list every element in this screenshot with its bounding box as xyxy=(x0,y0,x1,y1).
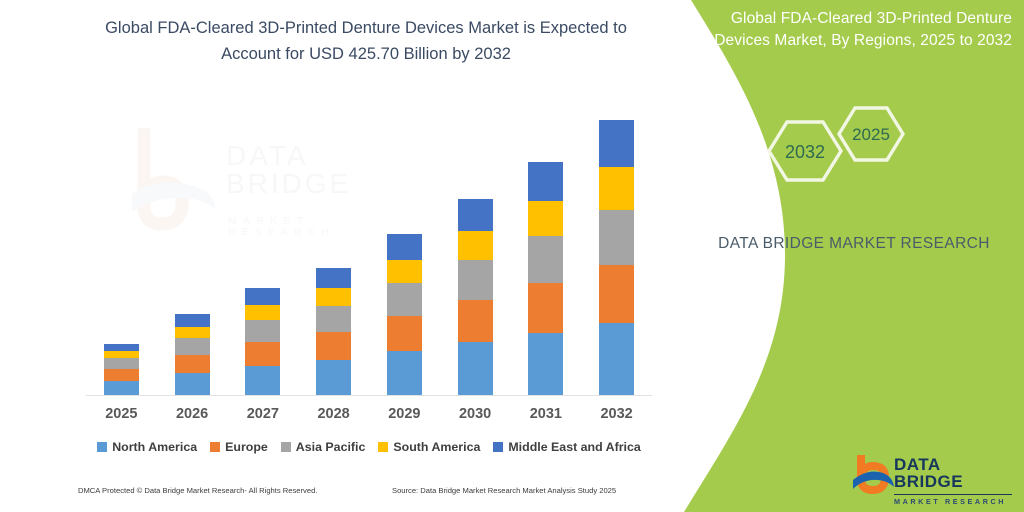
bar-segment[interactable] xyxy=(387,351,422,395)
legend-label: South America xyxy=(393,440,480,454)
bar-segment[interactable] xyxy=(599,210,634,265)
bar-segment[interactable] xyxy=(458,231,493,260)
green-panel-shape xyxy=(664,0,1024,512)
bar-segment[interactable] xyxy=(245,305,280,320)
bar-segment[interactable] xyxy=(316,306,351,332)
bar-segment[interactable] xyxy=(387,260,422,283)
brand-logo-tagline: MARKET RESEARCH xyxy=(894,494,1012,505)
bar-2026[interactable] xyxy=(175,314,210,395)
bar-segment[interactable] xyxy=(387,316,422,351)
bar-segment[interactable] xyxy=(458,300,493,342)
legend-item-europe[interactable]: Europe xyxy=(210,440,268,454)
bar-segment[interactable] xyxy=(175,373,210,395)
brand-logo: DATA BRIDGE MARKET RESEARCH xyxy=(852,452,1012,500)
legend-swatch-icon xyxy=(210,442,220,452)
bar-segment[interactable] xyxy=(528,201,563,236)
x-axis-line xyxy=(86,395,652,396)
panel-brand-text: DATA BRIDGE MARKET RESEARCH xyxy=(709,232,999,255)
bar-segment[interactable] xyxy=(245,366,280,395)
legend-swatch-icon xyxy=(97,442,107,452)
bar-segment[interactable] xyxy=(599,120,634,167)
bar-segment[interactable] xyxy=(175,327,210,338)
legend-label: North America xyxy=(112,440,197,454)
bar-series-container xyxy=(86,100,652,395)
bar-segment[interactable] xyxy=(104,369,139,381)
brand-logo-text: DATA BRIDGE MARKET RESEARCH xyxy=(894,456,1012,505)
legend-swatch-icon xyxy=(281,442,291,452)
bar-segment[interactable] xyxy=(104,351,139,358)
legend-item-middle-east-and-africa[interactable]: Middle East and Africa xyxy=(493,440,640,454)
bar-segment[interactable] xyxy=(458,342,493,395)
brand-logo-name: DATA BRIDGE xyxy=(894,456,1012,490)
bar-2030[interactable] xyxy=(458,199,493,395)
bar-segment[interactable] xyxy=(528,236,563,283)
bar-segment[interactable] xyxy=(387,283,422,316)
bar-segment[interactable] xyxy=(104,344,139,351)
bar-segment[interactable] xyxy=(316,332,351,360)
bar-segment[interactable] xyxy=(316,268,351,288)
x-axis-label-2028: 2028 xyxy=(304,406,364,422)
bar-segment[interactable] xyxy=(528,333,563,395)
footer-copyright: DMCA Protected © Data Bridge Market Rese… xyxy=(78,486,317,495)
bar-segment[interactable] xyxy=(245,288,280,305)
bar-segment[interactable] xyxy=(104,358,139,369)
legend-swatch-icon xyxy=(378,442,388,452)
bar-segment[interactable] xyxy=(458,199,493,231)
bar-segment[interactable] xyxy=(599,265,634,323)
panel-title: Global FDA-Cleared 3D-Printed Denture De… xyxy=(712,8,1012,53)
bar-segment[interactable] xyxy=(316,288,351,306)
legend-label: Europe xyxy=(225,440,268,454)
bar-2028[interactable] xyxy=(316,268,351,395)
chart-plot-area xyxy=(86,100,652,396)
chart-legend: North AmericaEuropeAsia PacificSouth Ame… xyxy=(86,436,652,458)
bar-segment[interactable] xyxy=(104,381,139,395)
bar-segment[interactable] xyxy=(528,283,563,333)
bar-segment[interactable] xyxy=(245,320,280,342)
footer-source: Source: Data Bridge Market Research Mark… xyxy=(392,486,616,495)
x-axis-label-2030: 2030 xyxy=(445,406,505,422)
bar-segment[interactable] xyxy=(599,167,634,210)
legend-item-asia-pacific[interactable]: Asia Pacific xyxy=(281,440,366,454)
bar-2032[interactable] xyxy=(599,120,634,395)
x-axis-label-2025: 2025 xyxy=(91,406,151,422)
bar-segment[interactable] xyxy=(175,314,210,327)
x-axis-labels: 20252026202720282029203020312032 xyxy=(86,406,652,428)
bar-segment[interactable] xyxy=(245,342,280,366)
bar-segment[interactable] xyxy=(316,360,351,395)
bar-segment[interactable] xyxy=(387,234,422,260)
bar-segment[interactable] xyxy=(599,323,634,395)
legend-item-south-america[interactable]: South America xyxy=(378,440,480,454)
legend-swatch-icon xyxy=(493,442,503,452)
legend-label: Asia Pacific xyxy=(296,440,366,454)
x-axis-label-2031: 2031 xyxy=(516,406,576,422)
bar-segment[interactable] xyxy=(528,162,563,201)
right-green-panel: Global FDA-Cleared 3D-Printed Denture De… xyxy=(664,0,1024,512)
hexagon-2032-label: 2032 xyxy=(785,142,825,162)
bar-segment[interactable] xyxy=(458,260,493,300)
legend-label: Middle East and Africa xyxy=(508,440,640,454)
bar-segment[interactable] xyxy=(175,355,210,373)
bar-2031[interactable] xyxy=(528,162,563,395)
x-axis-label-2027: 2027 xyxy=(233,406,293,422)
x-axis-label-2029: 2029 xyxy=(374,406,434,422)
x-axis-label-2032: 2032 xyxy=(587,406,647,422)
chart-title: Global FDA-Cleared 3D-Printed Denture De… xyxy=(86,16,646,67)
bar-2025[interactable] xyxy=(104,344,139,395)
bar-segment[interactable] xyxy=(175,338,210,355)
bar-2029[interactable] xyxy=(387,234,422,395)
bar-2027[interactable] xyxy=(245,288,280,395)
footer: DMCA Protected © Data Bridge Market Rese… xyxy=(0,484,670,504)
hexagon-group: 2032 2025 xyxy=(749,96,929,196)
x-axis-label-2026: 2026 xyxy=(162,406,222,422)
hexagon-2025-label: 2025 xyxy=(852,125,890,144)
brand-logo-icon xyxy=(852,452,896,496)
legend-item-north-america[interactable]: North America xyxy=(97,440,197,454)
